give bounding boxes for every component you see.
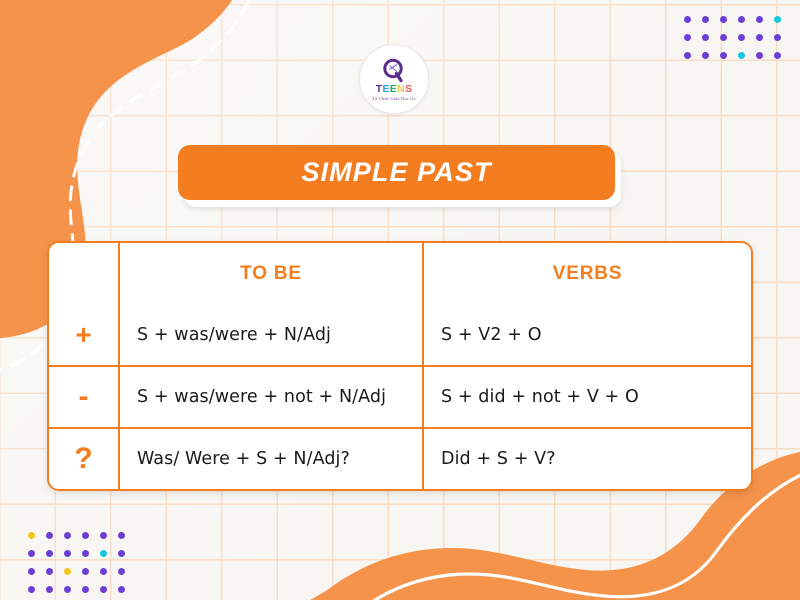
logo-letter: E: [390, 83, 397, 95]
logo-tagline: Tổ Chức Giáo Dục Úc: [372, 96, 415, 101]
page-title: SIMPLE PAST: [301, 157, 491, 188]
title-banner-container: SIMPLE PAST: [178, 145, 615, 200]
brand-logo: TEENS Tổ Chức Giáo Dục Úc: [359, 44, 429, 114]
row-symbol-interrogative: ?: [49, 429, 120, 489]
cell-tobe-negative: S + was/were + not + N/Adj: [120, 367, 424, 429]
table-head: TO BE VERBS: [49, 243, 751, 305]
header-verbs: VERBS: [424, 243, 751, 305]
cell-verbs-affirmative: S + V2 + O: [424, 305, 751, 367]
logo-letter: S: [405, 83, 412, 95]
table-header-row: TO BE VERBS: [49, 243, 751, 305]
row-symbol-negative: -: [49, 367, 120, 429]
table-row: ? Was/ Were + S + N/Adj? Did + S + V?: [49, 429, 751, 489]
title-banner: SIMPLE PAST: [178, 145, 615, 200]
cell-verbs-interrogative: Did + S + V?: [424, 429, 751, 489]
cell-tobe-affirmative: S + was/were + N/Adj: [120, 305, 424, 367]
row-symbol-affirmative: +: [49, 305, 120, 367]
logo-wordmark: TEENS: [376, 84, 413, 95]
cell-verbs-negative: S + did + not + V + O: [424, 367, 751, 429]
table-row: - S + was/were + not + N/Adj S + did + n…: [49, 367, 751, 429]
logo-letter: E: [382, 83, 389, 95]
grammar-table: TO BE VERBS + S + was/were + N/Adj S + V…: [47, 241, 753, 491]
poster-canvas: TEENS Tổ Chức Giáo Dục Úc SIMPLE PAST TO…: [0, 0, 800, 600]
cell-tobe-interrogative: Was/ Were + S + N/Adj?: [120, 429, 424, 489]
table-body: + S + was/were + N/Adj S + V2 + O - S + …: [49, 305, 751, 489]
logo-q-icon: [381, 57, 407, 83]
grammar-table-container: TO BE VERBS + S + was/were + N/Adj S + V…: [47, 241, 753, 491]
header-to-be: TO BE: [120, 243, 424, 305]
logo-letter: N: [397, 83, 405, 95]
header-symbol: [49, 243, 120, 305]
table-row: + S + was/were + N/Adj S + V2 + O: [49, 305, 751, 367]
